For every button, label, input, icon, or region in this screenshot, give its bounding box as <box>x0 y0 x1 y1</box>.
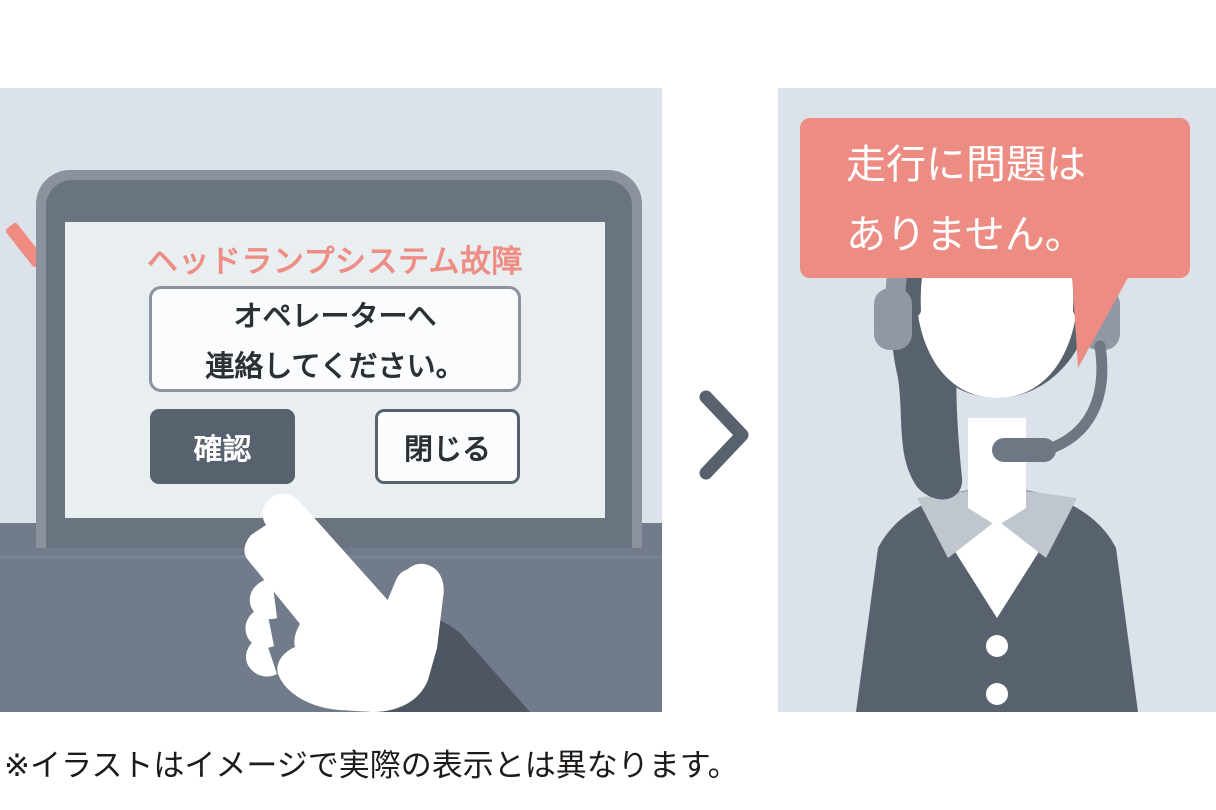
speech-line-1: 走行に問題は <box>846 118 1190 200</box>
speech-bubble: 走行に問題は ありません。 <box>800 118 1190 278</box>
close-button[interactable]: 閉じる <box>375 409 520 484</box>
message-box: オペレーターへ 連絡してください。 <box>149 286 521 392</box>
message-line-2: 連絡してください。 <box>152 342 518 392</box>
confirm-button[interactable]: 確認 <box>150 409 295 484</box>
microphone-icon <box>992 438 1056 462</box>
alert-title: ヘッドランプシステム故障 <box>65 236 605 281</box>
dashboard-seam <box>0 555 662 559</box>
earcup-left <box>874 288 912 350</box>
speech-bubble-tail <box>1068 274 1138 370</box>
chevron-right-icon <box>688 385 758 485</box>
touchscreen-display[interactable]: ヘッドランプシステム故障 オペレーターへ 連絡してください。 確認 閉じる <box>65 222 605 518</box>
dashboard-body <box>0 523 662 712</box>
speech-line-2: ありません。 <box>846 200 1190 270</box>
jacket-button-2 <box>986 683 1008 705</box>
operator-panel: 走行に問題は ありません。 <box>778 88 1216 712</box>
message-line-1: オペレーターへ <box>152 292 518 342</box>
jacket-button-1 <box>986 635 1008 657</box>
disclaimer-caption: ※イラストはイメージで実際の表示とは異なります。 <box>4 740 739 785</box>
car-dashboard-panel: ヘッドランプシステム故障 オペレーターへ 連絡してください。 確認 閉じる <box>0 88 662 712</box>
